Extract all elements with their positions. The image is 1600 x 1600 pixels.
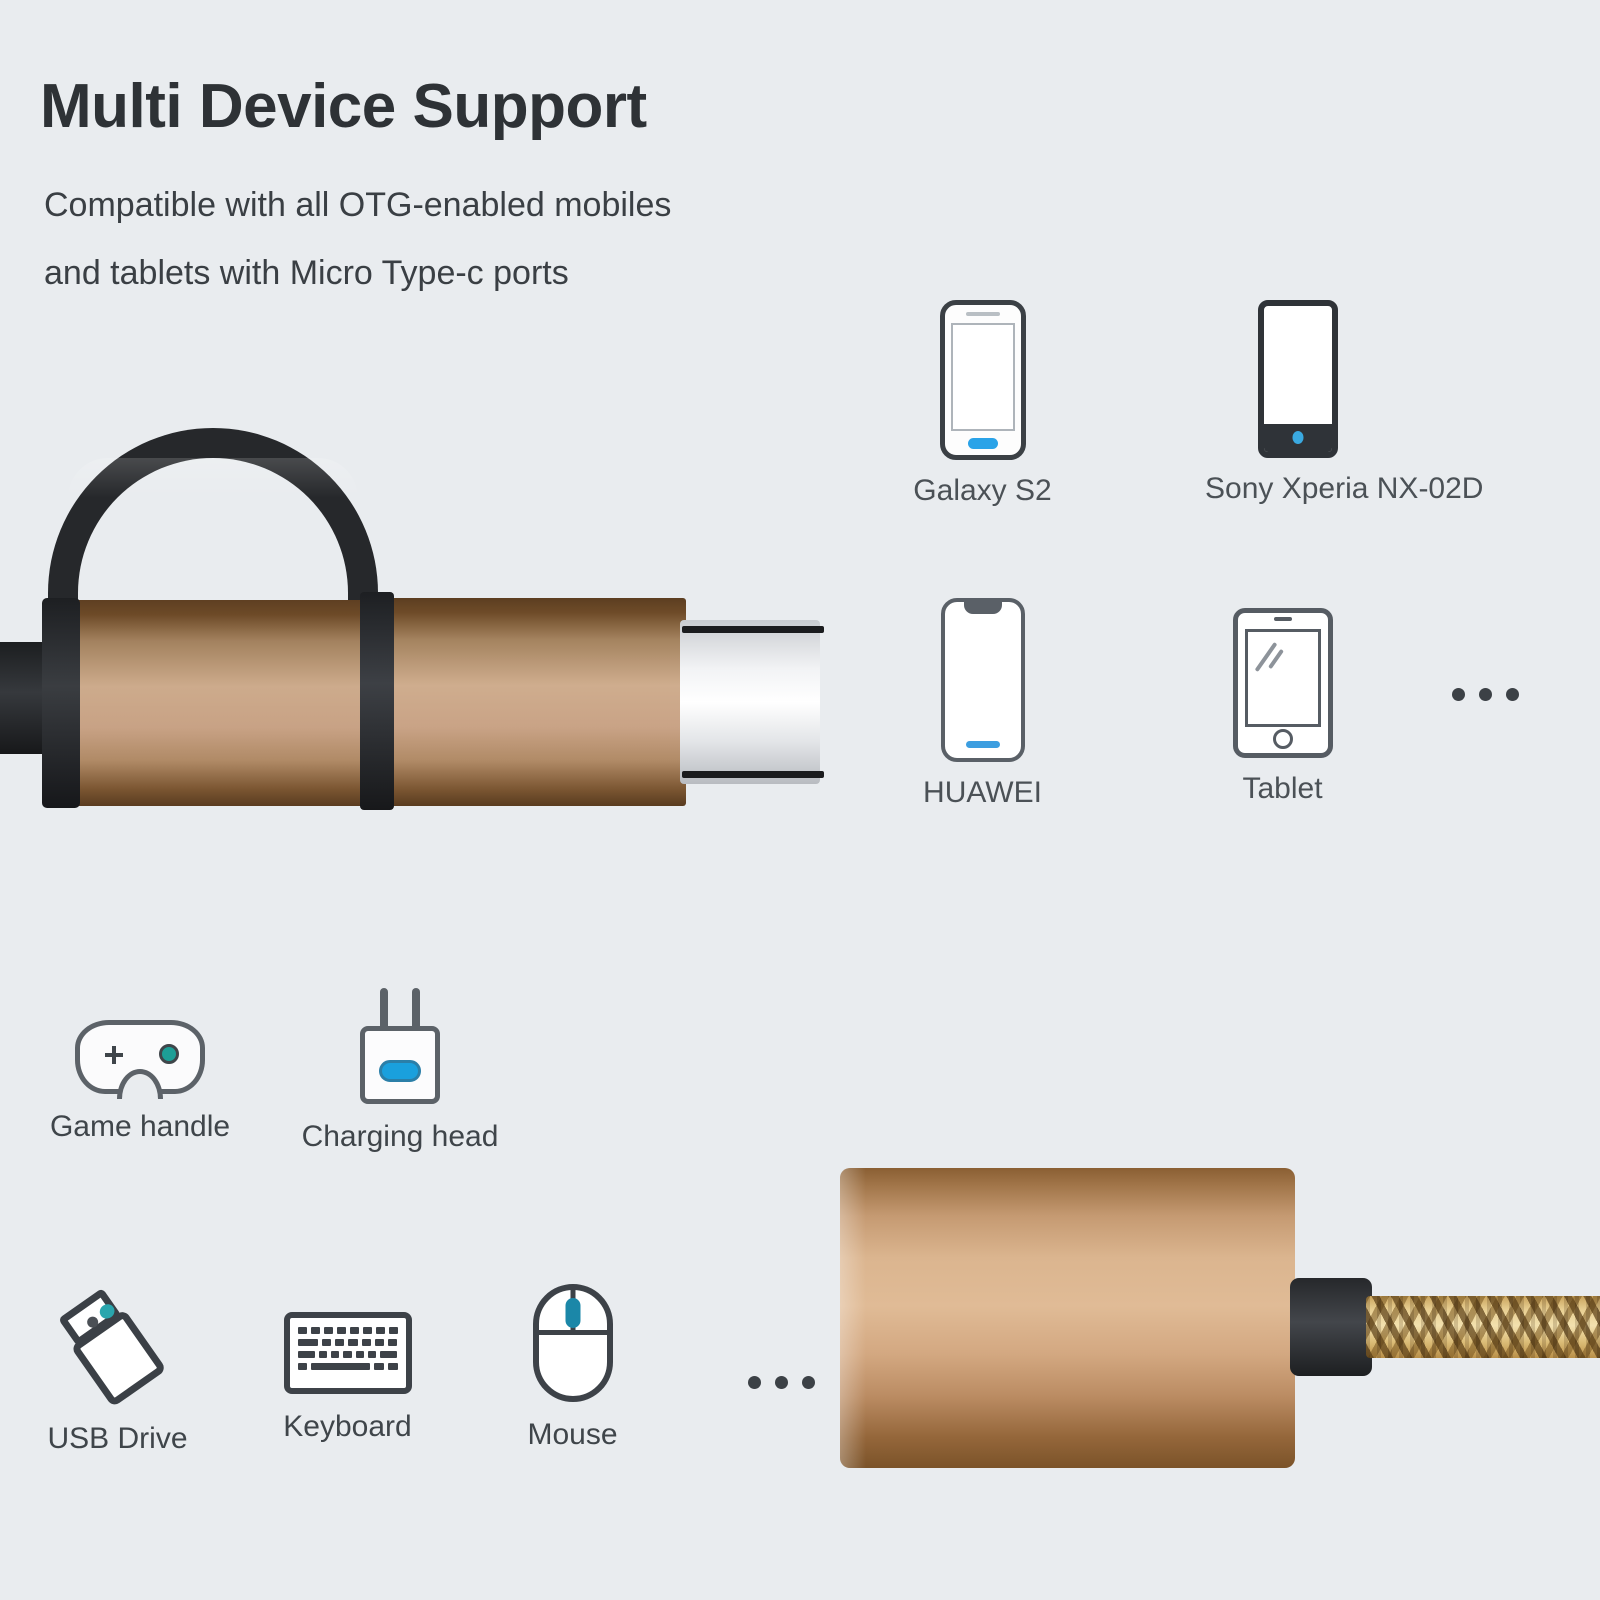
gold-micro-usb-barrel: [64, 600, 364, 806]
silver-type-c-tip: [680, 620, 820, 784]
tablet-icon: [1195, 608, 1370, 758]
accessory-item-game-handle: Game handle: [40, 1020, 240, 1144]
device-label-sony: Sony Xperia NX-02D: [1205, 472, 1380, 506]
subtitle-line-2: and tablets with Micro Type-c ports: [44, 254, 569, 293]
phone-galaxy-icon: [895, 300, 1070, 460]
accessory-item-keyboard: Keyboard: [255, 1312, 440, 1444]
usb-a-female-head-photo: [740, 1120, 1600, 1500]
ellipsis-devices: [1452, 688, 1519, 701]
device-item-tablet: Tablet: [1195, 608, 1370, 806]
keyboard-icon: [255, 1312, 440, 1394]
device-label-huawei: HUAWEI: [895, 776, 1070, 810]
barrel-a-black-collar: [42, 598, 80, 808]
product-infographic: Multi Device Support Compatible with all…: [0, 0, 1600, 1600]
black-strain-relief: [1290, 1278, 1372, 1376]
device-label-tablet: Tablet: [1195, 772, 1370, 806]
page-title: Multi Device Support: [40, 76, 647, 138]
accessory-item-mouse: Mouse: [490, 1284, 655, 1452]
accessory-item-charging-head: Charging head: [285, 988, 515, 1154]
gamepad-icon: [40, 1020, 240, 1094]
gold-usb-a-housing: [840, 1168, 1295, 1468]
accessory-label-mouse: Mouse: [490, 1418, 655, 1452]
black-arch-strap: [48, 428, 378, 618]
barrel-b-black-collar: [360, 592, 394, 810]
device-item-galaxy: Galaxy S2: [895, 300, 1070, 508]
gold-braided-cable: [1366, 1296, 1600, 1358]
mouse-icon: [490, 1284, 655, 1402]
usb-flash-drive-icon: [25, 1288, 210, 1406]
accessory-label-usb-drive: USB Drive: [25, 1422, 210, 1456]
gold-type-c-barrel: [386, 598, 686, 806]
accessory-label-game-handle: Game handle: [40, 1110, 240, 1144]
accessory-item-usb-drive: USB Drive: [25, 1288, 210, 1456]
dual-head-otg-adapter-photo: [0, 420, 840, 820]
wall-charger-icon: [285, 988, 515, 1104]
accessory-label-keyboard: Keyboard: [255, 1410, 440, 1444]
subtitle-line-1: Compatible with all OTG-enabled mobiles: [44, 186, 671, 225]
device-item-sony: Sony Xperia NX-02D: [1210, 300, 1385, 506]
accessory-label-charging-head: Charging head: [285, 1120, 515, 1154]
phone-sony-icon: [1210, 300, 1385, 458]
device-item-huawei: HUAWEI: [895, 598, 1070, 810]
phone-huawei-icon: [895, 598, 1070, 762]
device-label-galaxy: Galaxy S2: [895, 474, 1070, 508]
